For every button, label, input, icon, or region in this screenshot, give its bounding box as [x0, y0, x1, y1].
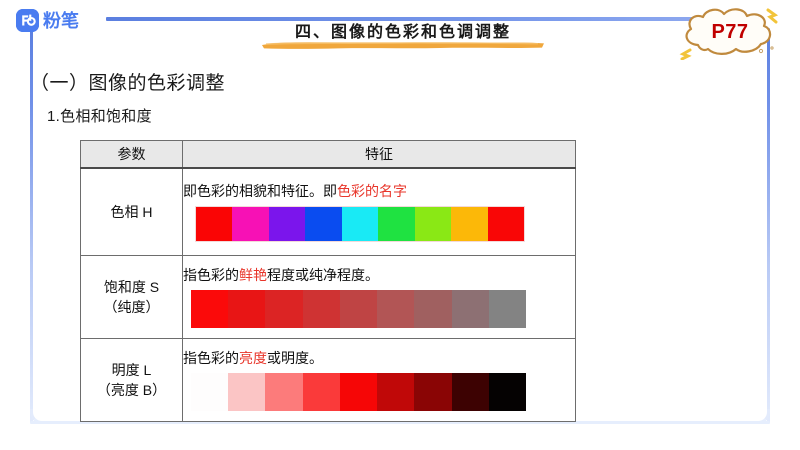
color-swatch — [305, 207, 341, 241]
page-number-label: P77 — [676, 4, 782, 60]
parameter-label: 明度 L — [112, 362, 152, 378]
feature-text-before: 指色彩的 — [183, 350, 239, 366]
feature-text-after: 程度或纯净程度。 — [267, 267, 379, 283]
parameter-label: 色相 H — [111, 204, 153, 220]
color-parameters-table: 参数 特征 色相 H 即色彩的相貌和特征。即色彩的名字 饱和度 S — [80, 140, 576, 422]
feature-cell-brightness: 指色彩的亮度或明度。 — [183, 339, 576, 422]
brand-name: 粉笔 — [43, 12, 79, 30]
color-swatch — [488, 207, 524, 241]
color-swatch — [232, 207, 268, 241]
feature-description-saturation: 指色彩的鲜艳程度或纯净程度。 — [183, 266, 575, 284]
feature-text-before: 指色彩的 — [183, 267, 239, 283]
color-swatch — [265, 290, 302, 328]
table-row: 饱和度 S （纯度） 指色彩的鲜艳程度或纯净程度。 — [81, 256, 576, 339]
feature-text-after: 或明度。 — [267, 350, 323, 366]
color-swatch — [414, 290, 451, 328]
color-swatch — [303, 290, 340, 328]
table-row: 色相 H 即色彩的相貌和特征。即色彩的名字 — [81, 168, 576, 256]
color-swatch — [451, 207, 487, 241]
slide-frame-corner-bottom-right — [754, 409, 770, 424]
hue-swatch-bar — [195, 206, 525, 242]
feature-description-hue: 即色彩的相貌和特征。即色彩的名字 — [183, 182, 575, 200]
color-swatch — [415, 207, 451, 241]
color-swatch — [228, 373, 265, 411]
parameter-name-brightness: 明度 L （亮度 B） — [81, 339, 183, 422]
parameter-sublabel: （纯度） — [104, 299, 160, 315]
slide-frame-corner-bottom-left — [30, 409, 46, 424]
feature-cell-saturation: 指色彩的鲜艳程度或纯净程度。 — [183, 256, 576, 339]
color-swatch — [196, 207, 232, 241]
color-swatch — [414, 373, 451, 411]
page-title: 四、图像的色彩和色调调整 — [258, 18, 548, 42]
table-header-row: 参数 特征 — [81, 141, 576, 169]
color-swatch — [452, 290, 489, 328]
feature-text-highlight: 亮度 — [239, 350, 267, 366]
feature-text-highlight: 鲜艳 — [239, 267, 267, 283]
fenbi-logo-icon — [16, 9, 39, 32]
feature-text-highlight: 色彩的名字 — [337, 183, 407, 199]
color-swatch — [303, 373, 340, 411]
color-swatch — [378, 207, 414, 241]
section-heading: （一）图像的色彩调整 — [30, 68, 225, 95]
slide-title-group: 四、图像的色彩和色调调整 — [258, 18, 548, 52]
color-swatch — [342, 207, 378, 241]
color-swatch — [452, 373, 489, 411]
feature-text-before: 即色彩的相貌和特征。即 — [183, 183, 337, 199]
color-swatch — [191, 373, 228, 411]
parameter-sublabel: （亮度 B） — [97, 382, 166, 398]
feature-description-brightness: 指色彩的亮度或明度。 — [183, 349, 575, 367]
table-row: 明度 L （亮度 B） 指色彩的亮度或明度。 — [81, 339, 576, 422]
color-swatch — [269, 207, 305, 241]
brightness-swatch-bar — [191, 373, 526, 411]
color-swatch — [489, 373, 526, 411]
saturation-swatch-bar — [191, 290, 526, 328]
column-header-parameter: 参数 — [81, 141, 183, 169]
color-swatch — [228, 290, 265, 328]
page-number-badge: P77 — [676, 4, 782, 60]
color-swatch — [191, 290, 228, 328]
color-swatch — [377, 290, 414, 328]
slide-frame-right-border — [767, 28, 770, 424]
color-swatch — [489, 290, 526, 328]
parameter-name-saturation: 饱和度 S （纯度） — [81, 256, 183, 339]
color-swatch — [340, 373, 377, 411]
parameter-label: 饱和度 S — [104, 279, 159, 295]
slide-canvas: 粉笔 四、图像的色彩和色调调整 P77 （一）图像的色彩调整 1.色相和饱和度 — [0, 0, 800, 450]
color-swatch — [377, 373, 414, 411]
parameter-name-hue: 色相 H — [81, 168, 183, 256]
brand-logo: 粉笔 — [16, 9, 79, 32]
subsection-heading: 1.色相和饱和度 — [47, 105, 152, 126]
color-swatch — [265, 373, 302, 411]
feature-cell-hue: 即色彩的相貌和特征。即色彩的名字 — [183, 168, 576, 256]
column-header-feature: 特征 — [183, 141, 576, 169]
color-swatch — [340, 290, 377, 328]
